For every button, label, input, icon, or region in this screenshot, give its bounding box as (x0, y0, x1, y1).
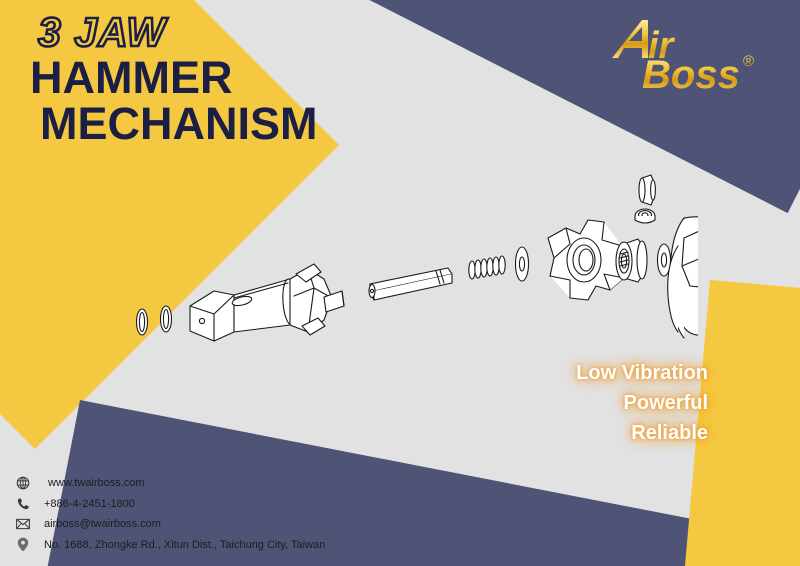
part-coil-spring (469, 256, 505, 279)
contact-row-email[interactable]: airboss@twairboss.com (12, 518, 325, 530)
phone-icon (12, 497, 34, 511)
part-small-nut (635, 209, 655, 223)
poster-canvas: 3 JAW HAMMER MECHANISM ir Boss ® Low Vib… (0, 0, 800, 566)
location-pin-icon (12, 537, 34, 552)
contact-row-address[interactable]: No. 1688, Zhongke Rd., Xitun Dist., Taic… (12, 537, 325, 552)
globe-icon (12, 476, 34, 490)
contact-email-text: airboss@twairboss.com (44, 518, 161, 530)
part-roll-pin (639, 175, 655, 205)
contact-info: www.twairboss.com +886-4-2451-1800 airbo… (12, 476, 325, 552)
tagline-block: Low Vibration Powerful Reliable (576, 358, 708, 448)
tagline-item-2: Powerful (576, 388, 708, 418)
airboss-logo-mark: ir Boss ® (608, 14, 768, 94)
part-jaw-carrier (548, 220, 624, 300)
contact-row-website[interactable]: www.twairboss.com (12, 476, 325, 490)
tagline-item-1: Low Vibration (576, 358, 708, 388)
logo-registered-icon: ® (743, 53, 754, 70)
part-anvil-spindle (190, 264, 344, 341)
part-oring-1 (137, 309, 148, 335)
title-line-mechanism: MECHANISM (40, 101, 318, 147)
part-washer-1 (516, 247, 529, 281)
contact-website-text: www.twairboss.com (48, 477, 145, 489)
logo-boss-text: Boss (642, 53, 740, 94)
contact-row-phone[interactable]: +886-4-2451-1800 (12, 497, 325, 511)
part-long-pin (369, 268, 452, 300)
contact-phone-text: +886-4-2451-1800 (44, 498, 135, 510)
airboss-logo: ir Boss ® (608, 14, 768, 94)
tagline-item-3: Reliable (576, 418, 708, 448)
title-line-3jaw: 3 JAW (38, 12, 318, 53)
part-hammer-housing (668, 217, 698, 338)
title-line-hammer: HAMMER (30, 55, 318, 101)
page-title: 3 JAW HAMMER MECHANISM (30, 12, 318, 148)
contact-address-text: No. 1688, Zhongke Rd., Xitun Dist., Taic… (44, 539, 325, 551)
envelope-icon (12, 518, 34, 530)
part-oring-2 (161, 306, 172, 332)
part-stepped-bushing (616, 239, 647, 282)
